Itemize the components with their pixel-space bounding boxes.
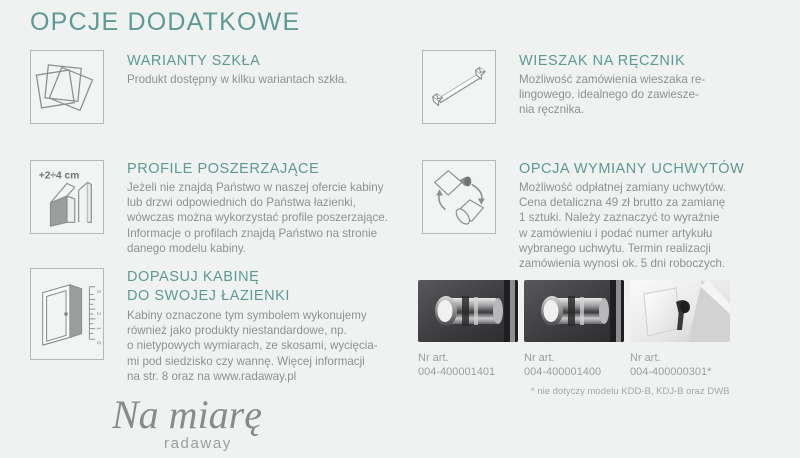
feature-body: Możliwość odpłatnej zamiany uchwytów. Ce…	[519, 180, 744, 271]
article-label: Nr art.	[418, 351, 518, 365]
product-item: Nr art. 004-400000301*	[630, 280, 730, 379]
options-page: OPCJE DODATKOWE WARIANTY SZKŁA Produkt d…	[0, 0, 800, 458]
round-chrome-knob-handle-photo	[524, 280, 624, 342]
svg-text:0: 0	[95, 341, 101, 345]
glass-panes-icon	[30, 50, 104, 124]
article-number-block: Nr art. 004-400001400	[524, 351, 624, 379]
article-number: 004-400001400	[524, 365, 624, 379]
feature-body: Możliwość zamówienia wieszaka re- lingow…	[519, 72, 705, 118]
page-title: OPCJE DODATKOWE	[30, 8, 300, 37]
products-footnote: * nie dotyczy modelu KDD-B, KDJ-B oraz D…	[531, 386, 730, 397]
widening-profile-icon: +2÷4 cm	[30, 160, 104, 234]
feature-body: Jeżeli nie znajdą Państwo w naszej oferc…	[127, 180, 388, 256]
article-number-block: Nr art. 004-400000301*	[630, 351, 730, 379]
feature-body: Produkt dostępny w kilku wariantach szkł…	[127, 72, 347, 87]
feature-title-line-2: DO SWOJEJ ŁAZIENKI	[127, 287, 378, 306]
product-item: Nr art. 004-400001400	[524, 280, 624, 379]
cabin-ruler-icon: 3 2 1 0	[30, 268, 104, 360]
article-number: 004-400000301*	[630, 365, 730, 379]
logo-script-text: Na miarę	[112, 392, 262, 437]
feature-body: Kabiny oznaczone tym symbolem wykonujemy…	[127, 308, 378, 384]
svg-text:2: 2	[95, 312, 101, 315]
logo-brand-text: radaway	[164, 435, 232, 452]
article-number: 004-400001401	[418, 365, 518, 379]
article-number-block: Nr art. 004-400001401	[418, 351, 518, 379]
article-label: Nr art.	[630, 351, 730, 365]
svg-text:3: 3	[95, 290, 101, 293]
feature-title: WIESZAK NA RĘCZNIK	[519, 52, 705, 70]
towel-rail-icon	[422, 50, 496, 124]
svg-text:1: 1	[95, 327, 101, 330]
feature-title: DOPASUJ KABINĘ DO SWOJEJ ŁAZIENKI	[127, 268, 378, 306]
feature-title: WARIANTY SZKŁA	[127, 52, 347, 70]
handle-swap-icon	[422, 160, 496, 234]
feature-title-line-1: DOPASUJ KABINĘ	[127, 268, 378, 287]
feature-title: OPCJA WYMIANY UCHWYTÓW	[519, 160, 744, 178]
round-chrome-knob-handle-photo	[418, 280, 518, 342]
flat-plate-handle-photo	[630, 280, 730, 342]
na-miare-radaway-logo: Na miarę radaway	[112, 392, 302, 454]
product-item: Nr art. 004-400001401	[418, 280, 518, 379]
feature-title: PROFILE POSZERZAJĄCE	[127, 160, 388, 178]
widening-profile-icon-label: +2÷4 cm	[39, 171, 80, 182]
article-label: Nr art.	[524, 351, 624, 365]
